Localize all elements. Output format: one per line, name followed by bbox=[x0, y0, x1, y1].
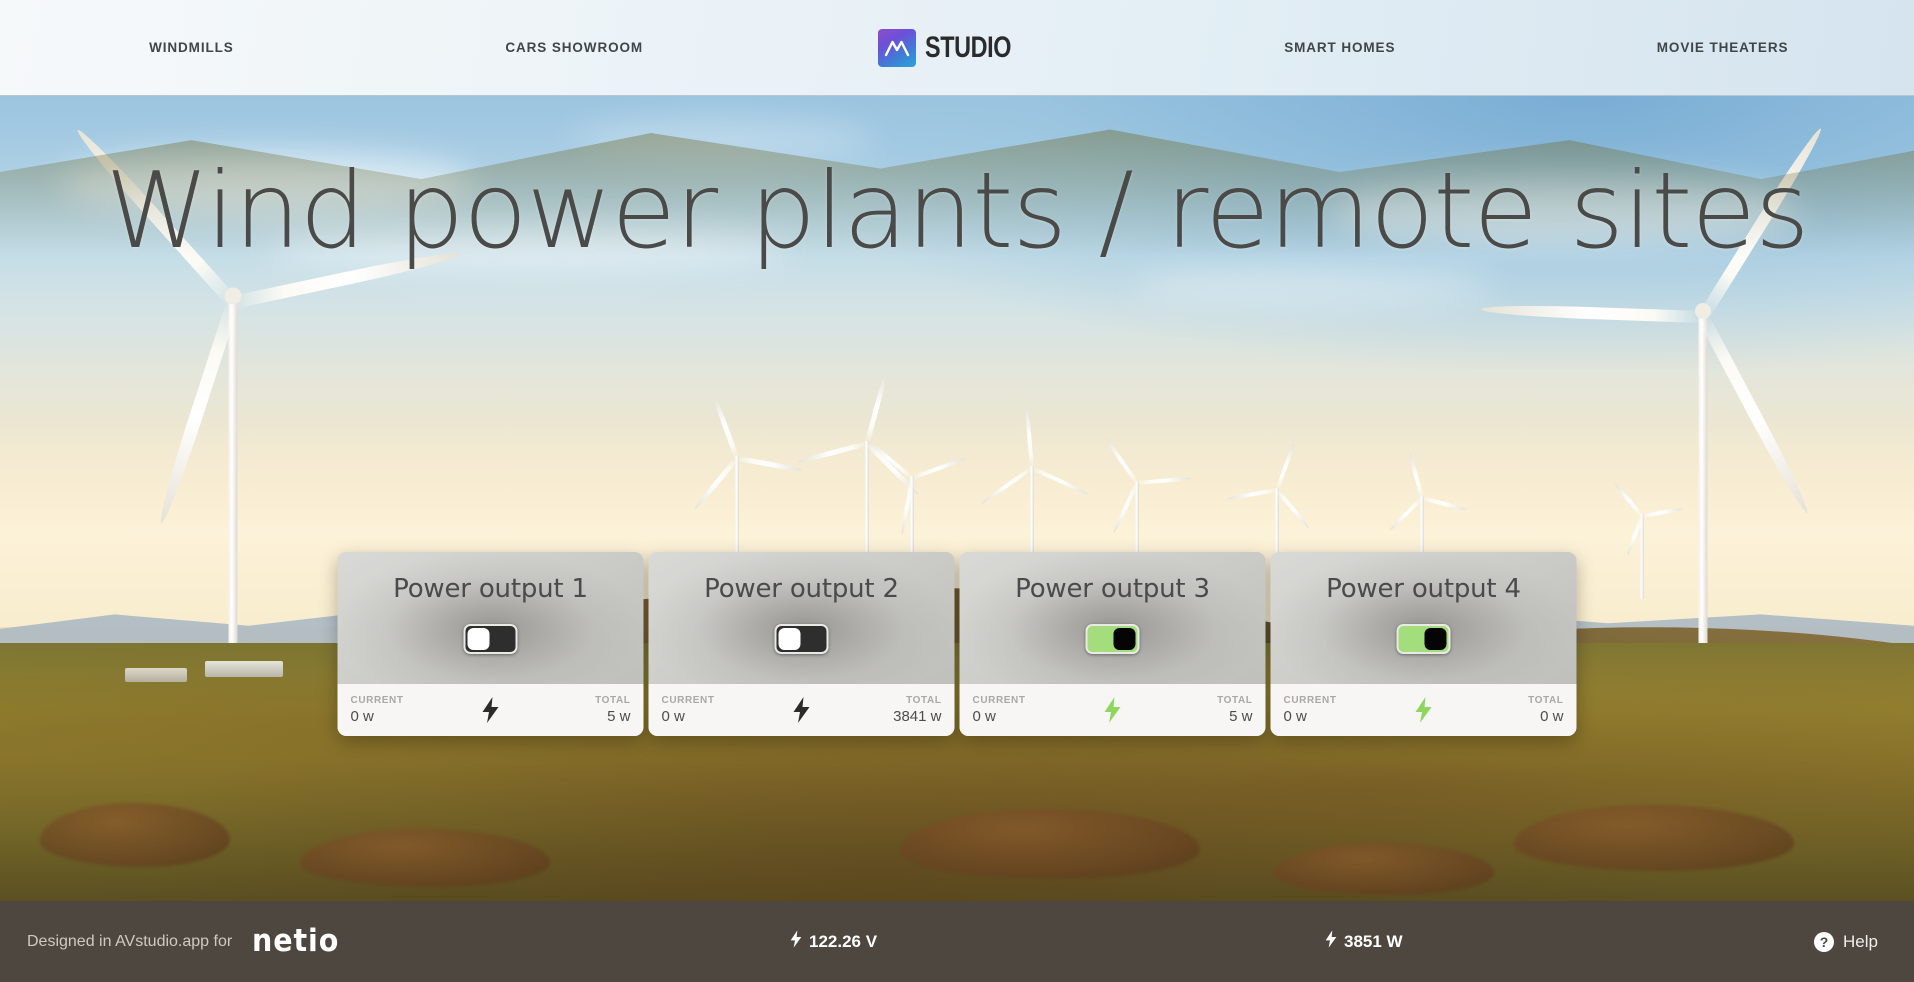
total-label: TOTAL bbox=[1217, 695, 1252, 706]
designed-in-label: Designed in AVstudio.app for bbox=[27, 933, 232, 951]
current-value: 0 w bbox=[351, 708, 404, 725]
total-power-readout: 3851 W bbox=[1325, 930, 1403, 953]
building-shed bbox=[125, 668, 187, 682]
lightning-bolt-icon bbox=[1325, 930, 1337, 953]
current-value: 0 w bbox=[1284, 708, 1337, 725]
total-power-value: 3851 W bbox=[1344, 932, 1403, 952]
av-logo-icon bbox=[878, 29, 916, 67]
total-metric: TOTAL 3841 w bbox=[893, 695, 941, 725]
current-label: CURRENT bbox=[1284, 695, 1337, 706]
card-header: Power output 1 bbox=[338, 552, 644, 684]
hero-section: Wind power plants / remote sites Power o… bbox=[0, 96, 1914, 901]
help-label: Help bbox=[1843, 932, 1878, 952]
card-metrics: CURRENT 0 w TOTAL 3841 w bbox=[649, 684, 955, 736]
wind-turbine-distant bbox=[1640, 514, 1643, 599]
brand-logo[interactable]: STUDIO bbox=[766, 29, 1149, 67]
total-metric: TOTAL 5 w bbox=[595, 695, 630, 725]
card-header: Power output 4 bbox=[1271, 552, 1577, 684]
total-metric: TOTAL 0 w bbox=[1528, 695, 1563, 725]
nav-item-windmills[interactable]: WINDMILLS bbox=[0, 40, 383, 55]
app-root: WINDMILLS CARS SHOWROOM STUDIO SMART HOM… bbox=[0, 0, 1914, 982]
current-label: CURRENT bbox=[351, 695, 404, 706]
netio-logo: netio bbox=[252, 926, 339, 957]
card-title: Power output 2 bbox=[704, 574, 899, 604]
card-title: Power output 3 bbox=[1015, 574, 1210, 604]
current-label: CURRENT bbox=[662, 695, 715, 706]
lightning-bolt-icon bbox=[1415, 697, 1433, 723]
card-metrics: CURRENT 0 w TOTAL 5 w bbox=[960, 684, 1266, 736]
help-button[interactable]: ? Help bbox=[1814, 932, 1878, 952]
nav-item-movie-theaters[interactable]: MOVIE THEATERS bbox=[1531, 40, 1914, 55]
power-output-card[interactable]: Power output 4 CURRENT 0 w TOTAL bbox=[1271, 552, 1577, 736]
power-output-card[interactable]: Power output 1 CURRENT 0 w TOTAL bbox=[338, 552, 644, 736]
nav-item-cars-showroom[interactable]: CARS SHOWROOM bbox=[383, 40, 766, 55]
current-metric: CURRENT 0 w bbox=[351, 695, 404, 725]
total-value: 3841 w bbox=[893, 708, 941, 725]
current-value: 0 w bbox=[973, 708, 1026, 725]
lightning-bolt-icon bbox=[793, 697, 811, 723]
logo-wordmark: STUDIO bbox=[925, 31, 1011, 65]
current-label: CURRENT bbox=[973, 695, 1026, 706]
power-output-card[interactable]: Power output 3 CURRENT 0 w TOTAL bbox=[960, 552, 1266, 736]
footer-credit-group: Designed in AVstudio.app for netio bbox=[0, 926, 689, 957]
card-header: Power output 3 bbox=[960, 552, 1266, 684]
toggle-knob bbox=[779, 628, 801, 650]
card-header: Power output 2 bbox=[649, 552, 955, 684]
total-value: 5 w bbox=[607, 708, 630, 725]
total-metric: TOTAL 5 w bbox=[1217, 695, 1252, 725]
current-metric: CURRENT 0 w bbox=[973, 695, 1026, 725]
power-output-card[interactable]: Power output 2 CURRENT 0 w TOTAL bbox=[649, 552, 955, 736]
card-metrics: CURRENT 0 w TOTAL 5 w bbox=[338, 684, 644, 736]
voltage-readout: 122.26 V bbox=[790, 930, 877, 953]
card-title: Power output 1 bbox=[393, 574, 588, 604]
card-metrics: CURRENT 0 w TOTAL 0 w bbox=[1271, 684, 1577, 736]
lightning-bolt-icon bbox=[1104, 697, 1122, 723]
power-toggle-switch[interactable] bbox=[1397, 624, 1451, 654]
current-metric: CURRENT 0 w bbox=[1284, 695, 1337, 725]
power-toggle-switch[interactable] bbox=[775, 624, 829, 654]
current-metric: CURRENT 0 w bbox=[662, 695, 715, 725]
lightning-bolt-icon bbox=[482, 697, 500, 723]
question-mark-icon: ? bbox=[1814, 932, 1834, 952]
total-label: TOTAL bbox=[595, 695, 630, 706]
toggle-knob bbox=[1114, 628, 1136, 650]
voltage-value: 122.26 V bbox=[809, 932, 877, 952]
card-title: Power output 4 bbox=[1326, 574, 1521, 604]
power-toggle-switch[interactable] bbox=[464, 624, 518, 654]
top-navigation-bar: WINDMILLS CARS SHOWROOM STUDIO SMART HOM… bbox=[0, 0, 1914, 96]
current-value: 0 w bbox=[662, 708, 715, 725]
toggle-knob bbox=[468, 628, 490, 650]
nav-item-smart-homes[interactable]: SMART HOMES bbox=[1148, 40, 1531, 55]
total-label: TOTAL bbox=[906, 695, 941, 706]
building-shed bbox=[205, 661, 283, 677]
power-toggle-switch[interactable] bbox=[1086, 624, 1140, 654]
total-label: TOTAL bbox=[1528, 695, 1563, 706]
status-footer-bar: Designed in AVstudio.app for netio 122.2… bbox=[0, 901, 1914, 982]
lightning-bolt-icon bbox=[790, 930, 802, 953]
power-output-card-list: Power output 1 CURRENT 0 w TOTAL bbox=[338, 552, 1577, 736]
total-value: 0 w bbox=[1540, 708, 1563, 725]
total-value: 5 w bbox=[1229, 708, 1252, 725]
toggle-knob bbox=[1425, 628, 1447, 650]
page-title: Wind power plants / remote sites bbox=[0, 156, 1914, 266]
